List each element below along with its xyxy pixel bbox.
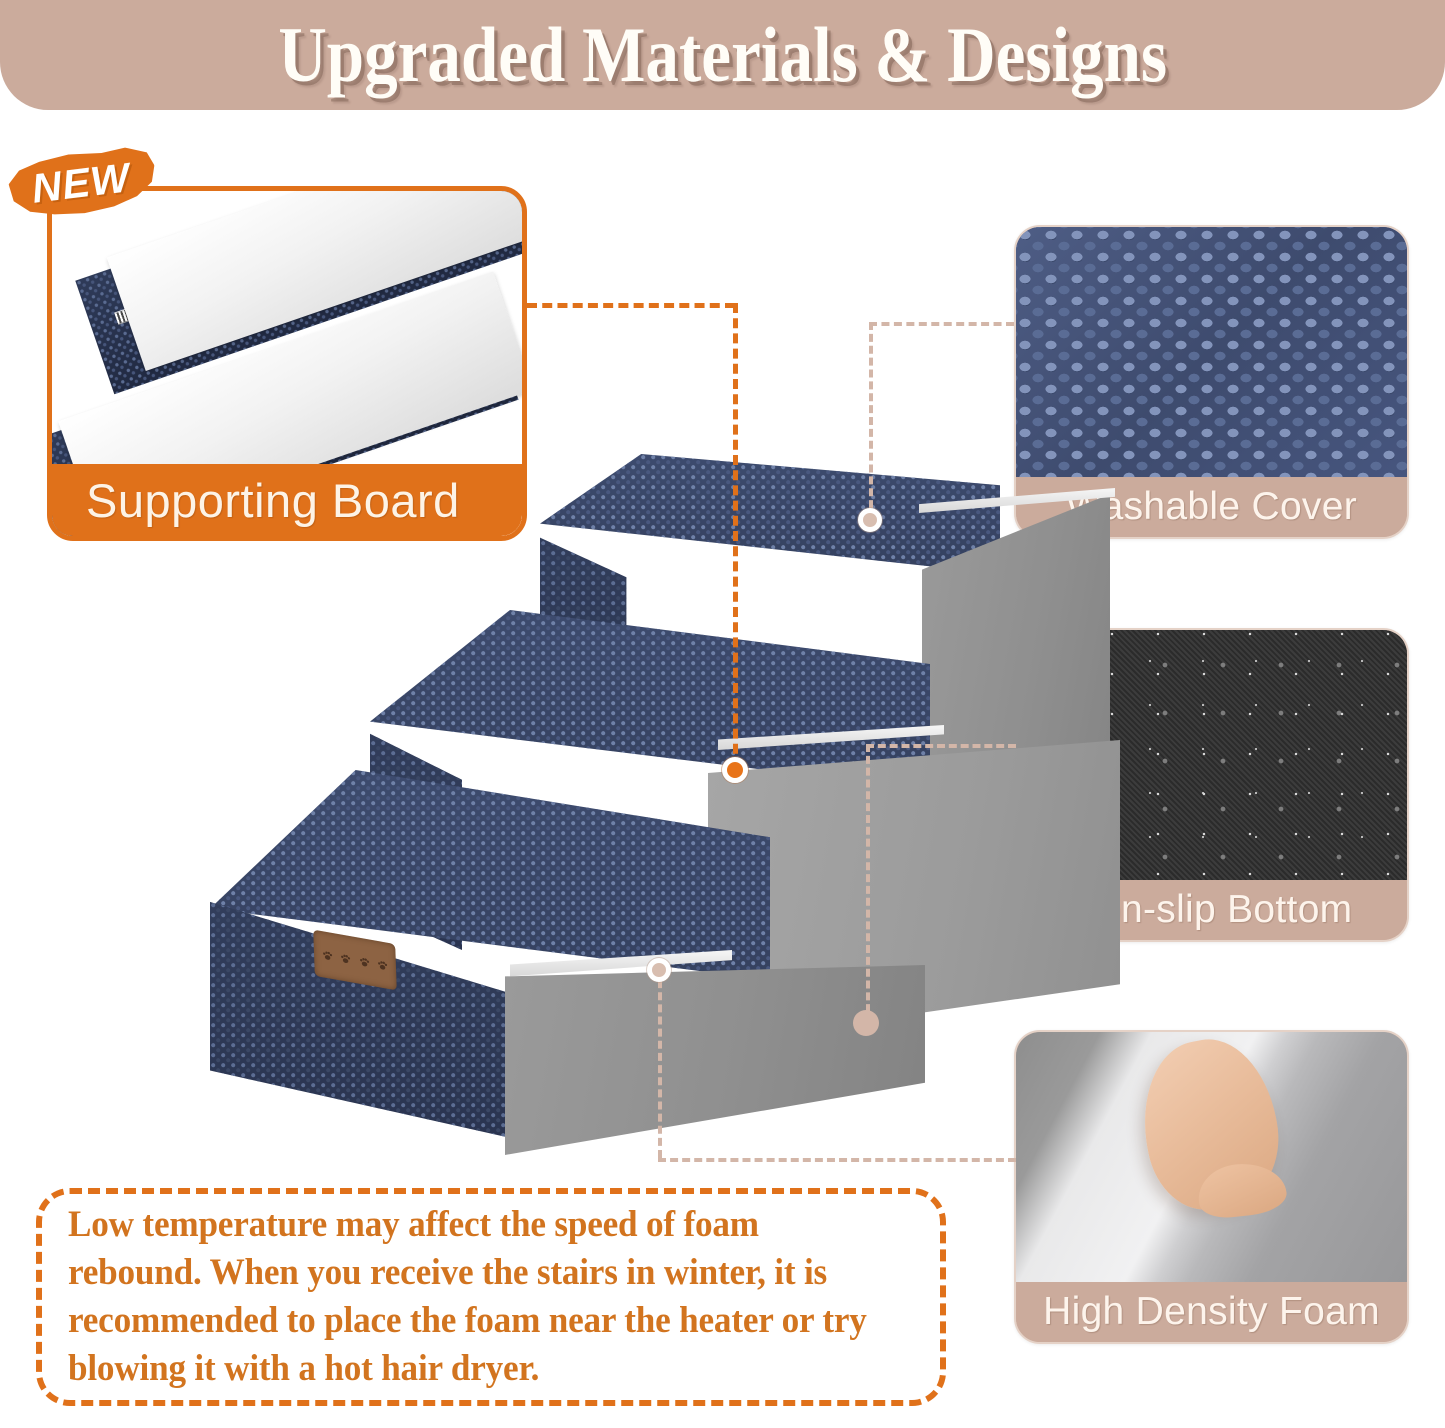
new-badge: NEW [6,152,156,214]
connector-tan-horizontal-cover [869,322,1014,326]
connector-dot-supporting-board [722,757,748,783]
washable-cover-swatch-image [1016,227,1407,477]
paw-print-icon [359,955,370,968]
high-density-foam-label-bar: High Density Foam [1016,1282,1407,1342]
connector-orange-horizontal [527,303,735,308]
paw-print-icon [377,958,388,971]
paw-print-icon [340,952,351,965]
feature-card-label: High Density Foam [1043,1290,1380,1334]
connector-orange-vertical [733,303,738,769]
connector-dot-nonslip-bottom [853,1010,879,1036]
page-header: Upgraded Materials & Designs [0,0,1445,110]
connector-tan-horizontal-nonslip [866,744,1016,748]
connector-dot-washable-cover [858,508,882,532]
high-density-foam-photo [1016,1032,1407,1282]
product-side-bottom [505,965,925,1155]
connector-tan-vertical-foam [658,968,662,1158]
cold-weather-notice-text: Low temperature may affect the speed of … [68,1201,872,1393]
connector-tan-horizontal-foam [658,1158,1016,1162]
page-title: Upgraded Materials & Designs [278,16,1167,94]
connector-dot-high-density-foam [647,958,671,982]
product-step-top-tread [540,454,1000,574]
product-image-pet-stairs [210,440,1020,1140]
cold-weather-notice: Low temperature may affect the speed of … [36,1188,946,1406]
connector-tan-vertical-cover [869,322,873,520]
connector-tan-vertical-nonslip [866,744,870,1024]
paw-print-icon [321,949,332,962]
feature-card-high-density-foam: High Density Foam [1014,1030,1409,1344]
new-badge-label: NEW [3,143,159,223]
